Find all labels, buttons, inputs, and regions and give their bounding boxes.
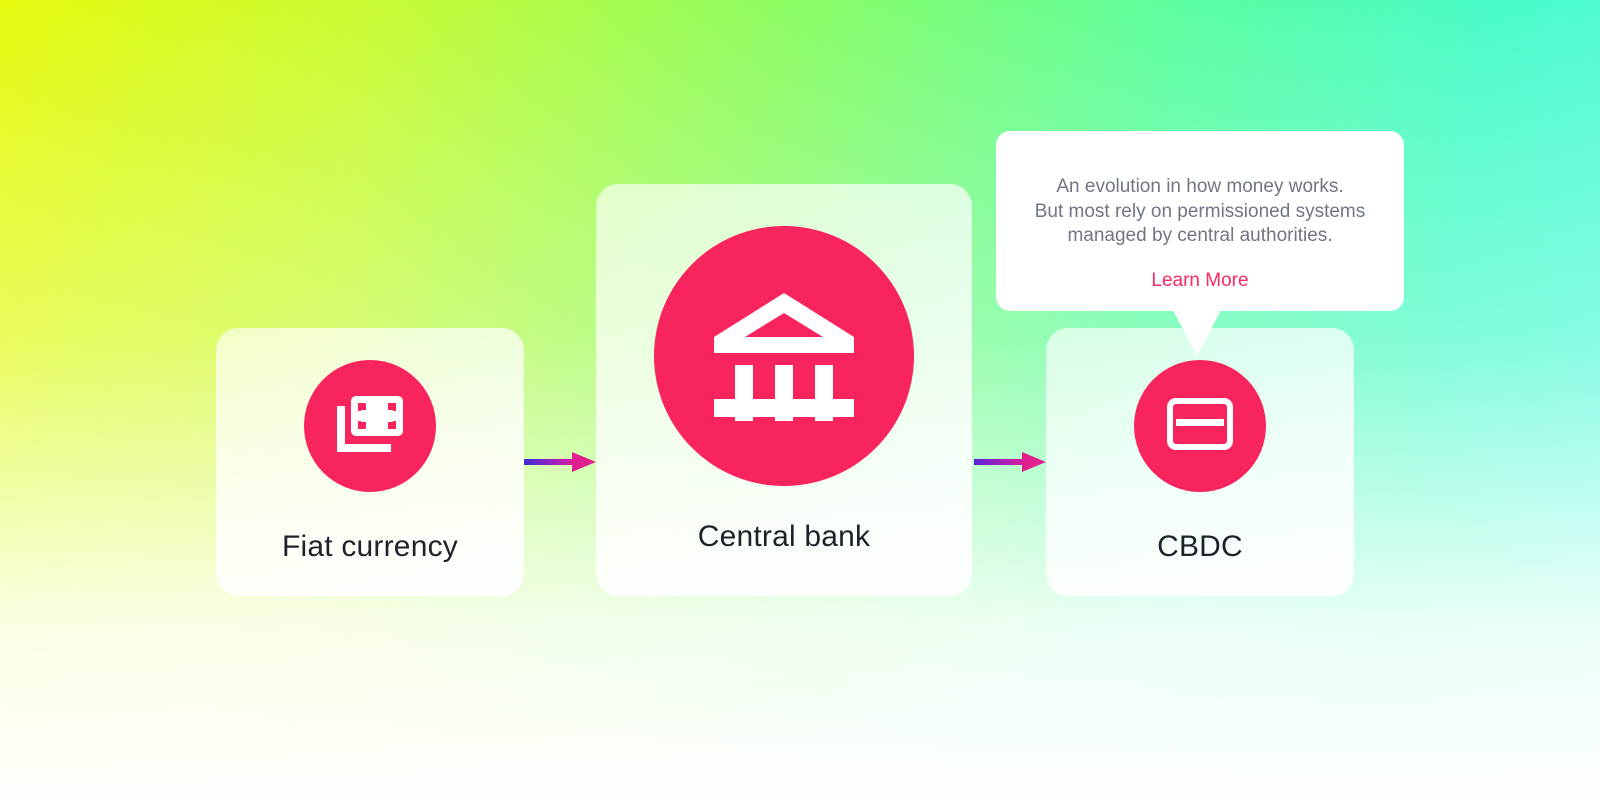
banknote-icon [333, 392, 407, 461]
node-card-cbdc[interactable]: CBDC [1046, 328, 1354, 596]
bank-icon [711, 287, 857, 426]
fiat-icon-disc [304, 360, 436, 492]
tooltip-body-text: An evolution in how money works. But mos… [1022, 175, 1378, 249]
credit-card-icon [1167, 398, 1233, 455]
node-card-fiat[interactable]: Fiat currency [216, 328, 524, 596]
arrow-bank-to-cbdc [974, 449, 1046, 475]
diagram-stage: Fiat currency Central bank [0, 0, 1600, 800]
arrow-fiat-to-bank [524, 449, 596, 475]
node-label-fiat: Fiat currency [282, 530, 458, 564]
node-label-central-bank: Central bank [698, 520, 871, 554]
tooltip-cbdc: An evolution in how money works. But mos… [996, 131, 1404, 311]
node-card-central-bank[interactable]: Central bank [596, 184, 972, 596]
central-bank-icon-disc [654, 226, 914, 486]
learn-more-link[interactable]: Learn More [1151, 270, 1248, 292]
node-label-cbdc: CBDC [1157, 530, 1243, 564]
tooltip-pointer [1173, 310, 1221, 356]
cbdc-icon-disc [1134, 360, 1266, 492]
